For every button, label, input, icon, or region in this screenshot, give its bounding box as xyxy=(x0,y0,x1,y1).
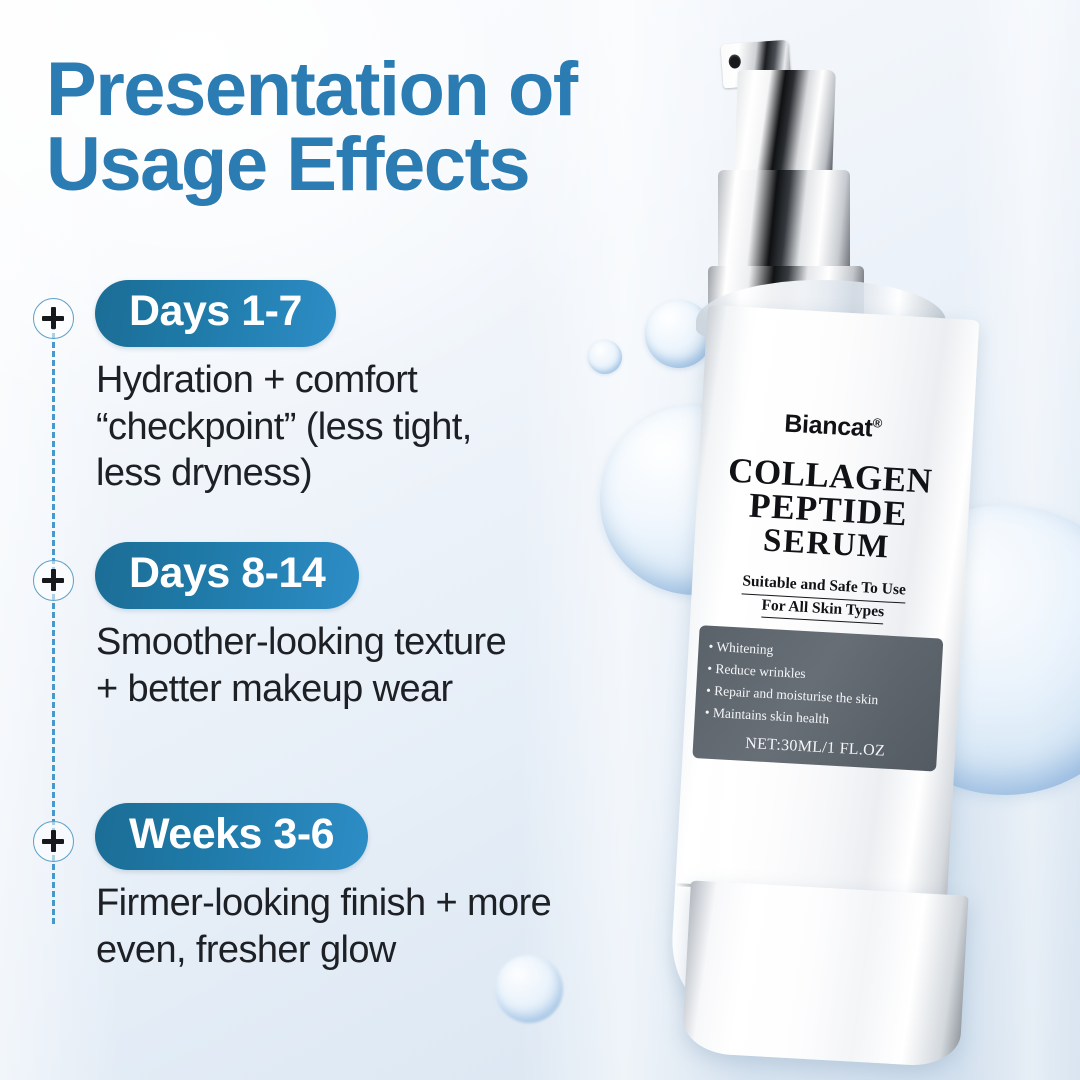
stage-badge[interactable]: Weeks 3-6 xyxy=(95,803,368,870)
timeline-item-days-8-14: Days 8-14 Smoother-looking texture + bet… xyxy=(0,542,700,712)
product-bottle: Biancat® COLLAGEN PEPTIDE SERUM Suitable… xyxy=(660,30,1000,1080)
pump-stem xyxy=(734,70,836,178)
benefits-list: Whitening Reduce wrinkles Repair and moi… xyxy=(704,636,933,736)
bottle-base xyxy=(681,880,968,1067)
net-content-label: NET:30ML/1 FL.OZ xyxy=(703,732,928,762)
benefits-panel: Whitening Reduce wrinkles Repair and moi… xyxy=(692,626,943,772)
product-name: COLLAGEN PEPTIDE SERUM xyxy=(698,452,959,567)
brand-text: Biancat xyxy=(784,410,874,443)
page-title: Presentation of Usage Effects xyxy=(46,52,726,202)
plus-icon xyxy=(33,298,74,339)
stage-badge[interactable]: Days 8-14 xyxy=(95,542,359,609)
registered-trademark-icon: ® xyxy=(872,415,882,430)
timeline-item-weeks-3-6: Weeks 3-6 Firmer-looking finish + more e… xyxy=(0,803,700,973)
stage-description: Hydration + comfort “checkpoint” (less t… xyxy=(96,357,681,496)
stage-description: Smoother-looking texture + better makeup… xyxy=(96,619,681,712)
stage-description: Firmer-looking finish + more even, fresh… xyxy=(96,880,681,973)
suitability-statement: Suitable and Safe To Use For All Skin Ty… xyxy=(694,569,952,629)
plus-icon xyxy=(33,560,74,601)
bottle-label: Biancat® COLLAGEN PEPTIDE SERUM Suitable… xyxy=(686,405,961,772)
infographic-canvas: Presentation of Usage Effects Days 1-7 H… xyxy=(0,0,1080,1080)
timeline-item-days-1-7: Days 1-7 Hydration + comfort “checkpoint… xyxy=(0,280,700,496)
nozzle-opening xyxy=(728,54,741,69)
pump-collar xyxy=(718,170,850,278)
plus-icon xyxy=(33,821,74,862)
stage-badge[interactable]: Days 1-7 xyxy=(95,280,336,347)
